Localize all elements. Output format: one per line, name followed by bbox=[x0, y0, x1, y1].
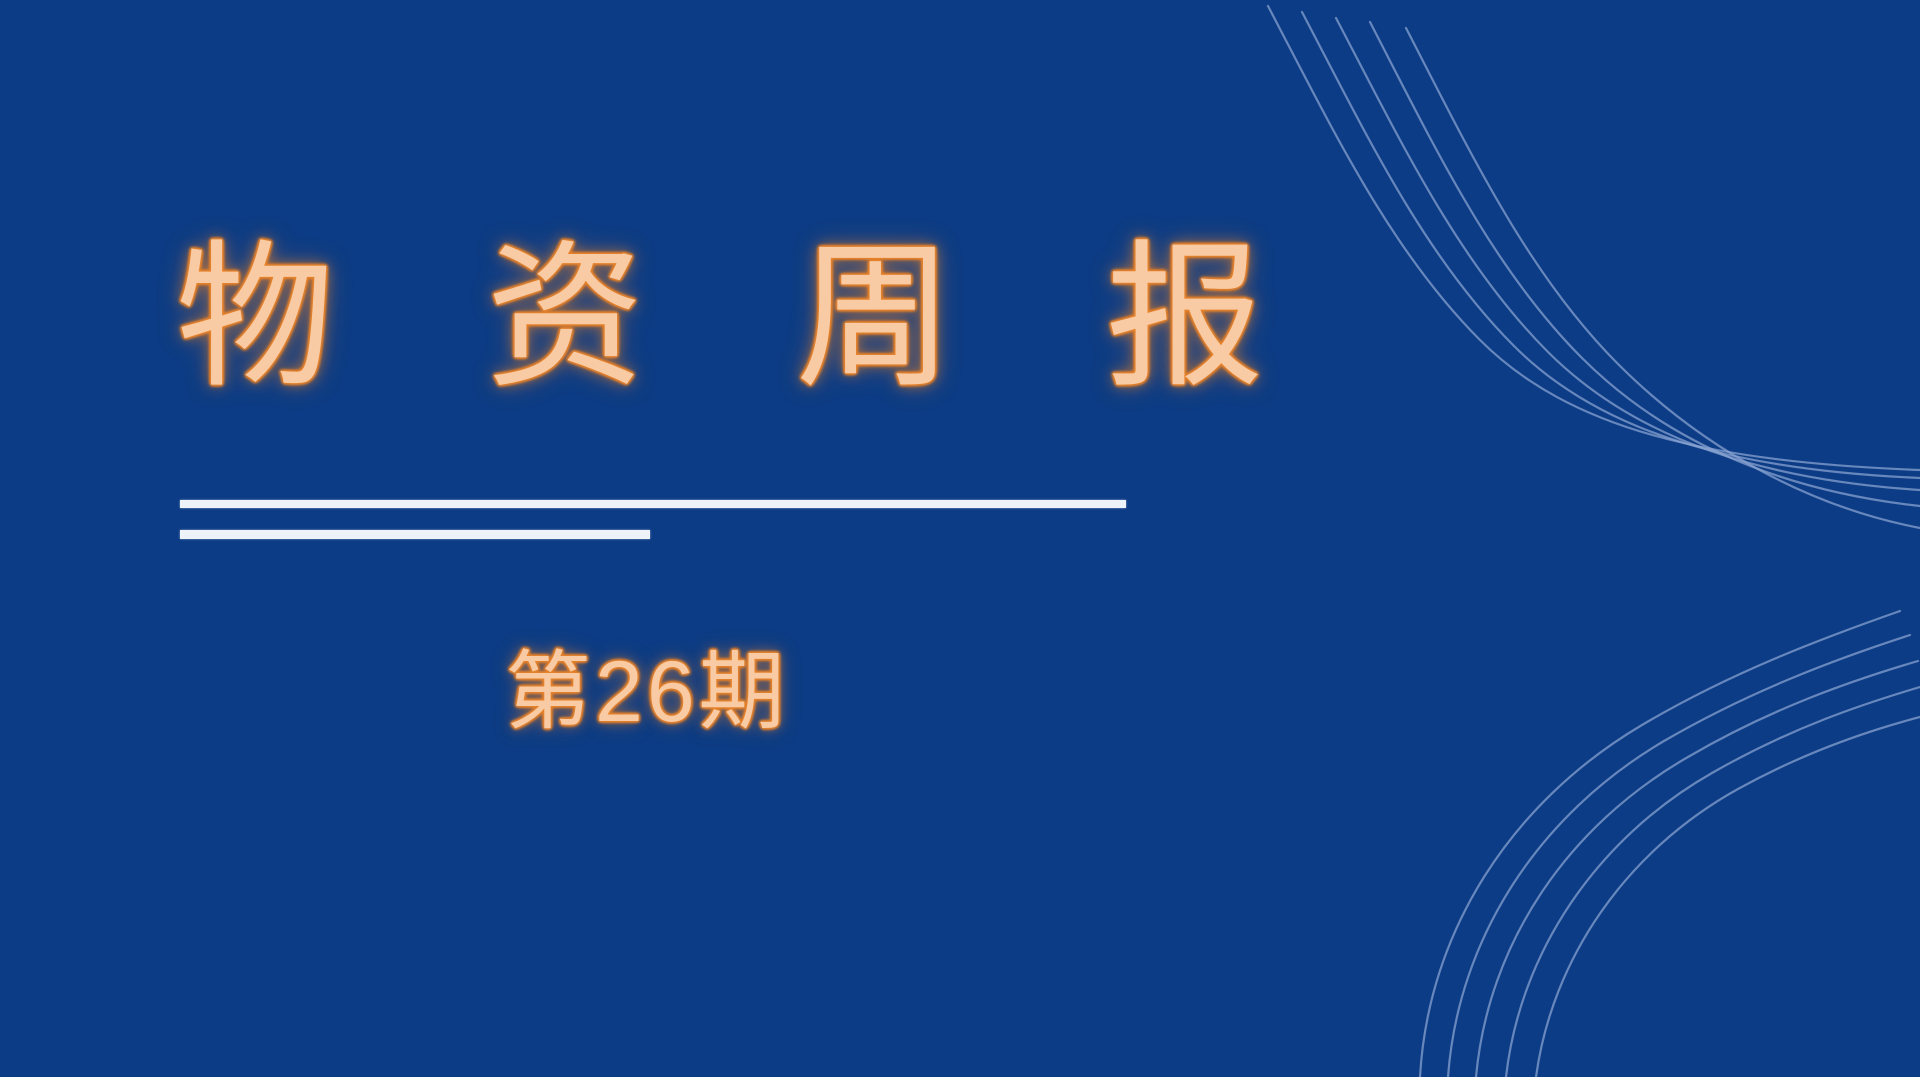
page-title: 物 资 周 报 bbox=[176, 236, 1176, 400]
issue-number-subtitle: 第26期 bbox=[505, 645, 789, 740]
title-underline-short bbox=[180, 530, 650, 539]
wave-lines-top-right-icon bbox=[1240, 0, 1920, 560]
title-block: 物 资 周 报 bbox=[176, 236, 1176, 400]
title-underline-long bbox=[180, 500, 1126, 508]
cover-slide: 物 资 周 报 第26期 bbox=[0, 0, 1920, 1077]
wave-lines-bottom-right-icon bbox=[1260, 577, 1920, 1077]
